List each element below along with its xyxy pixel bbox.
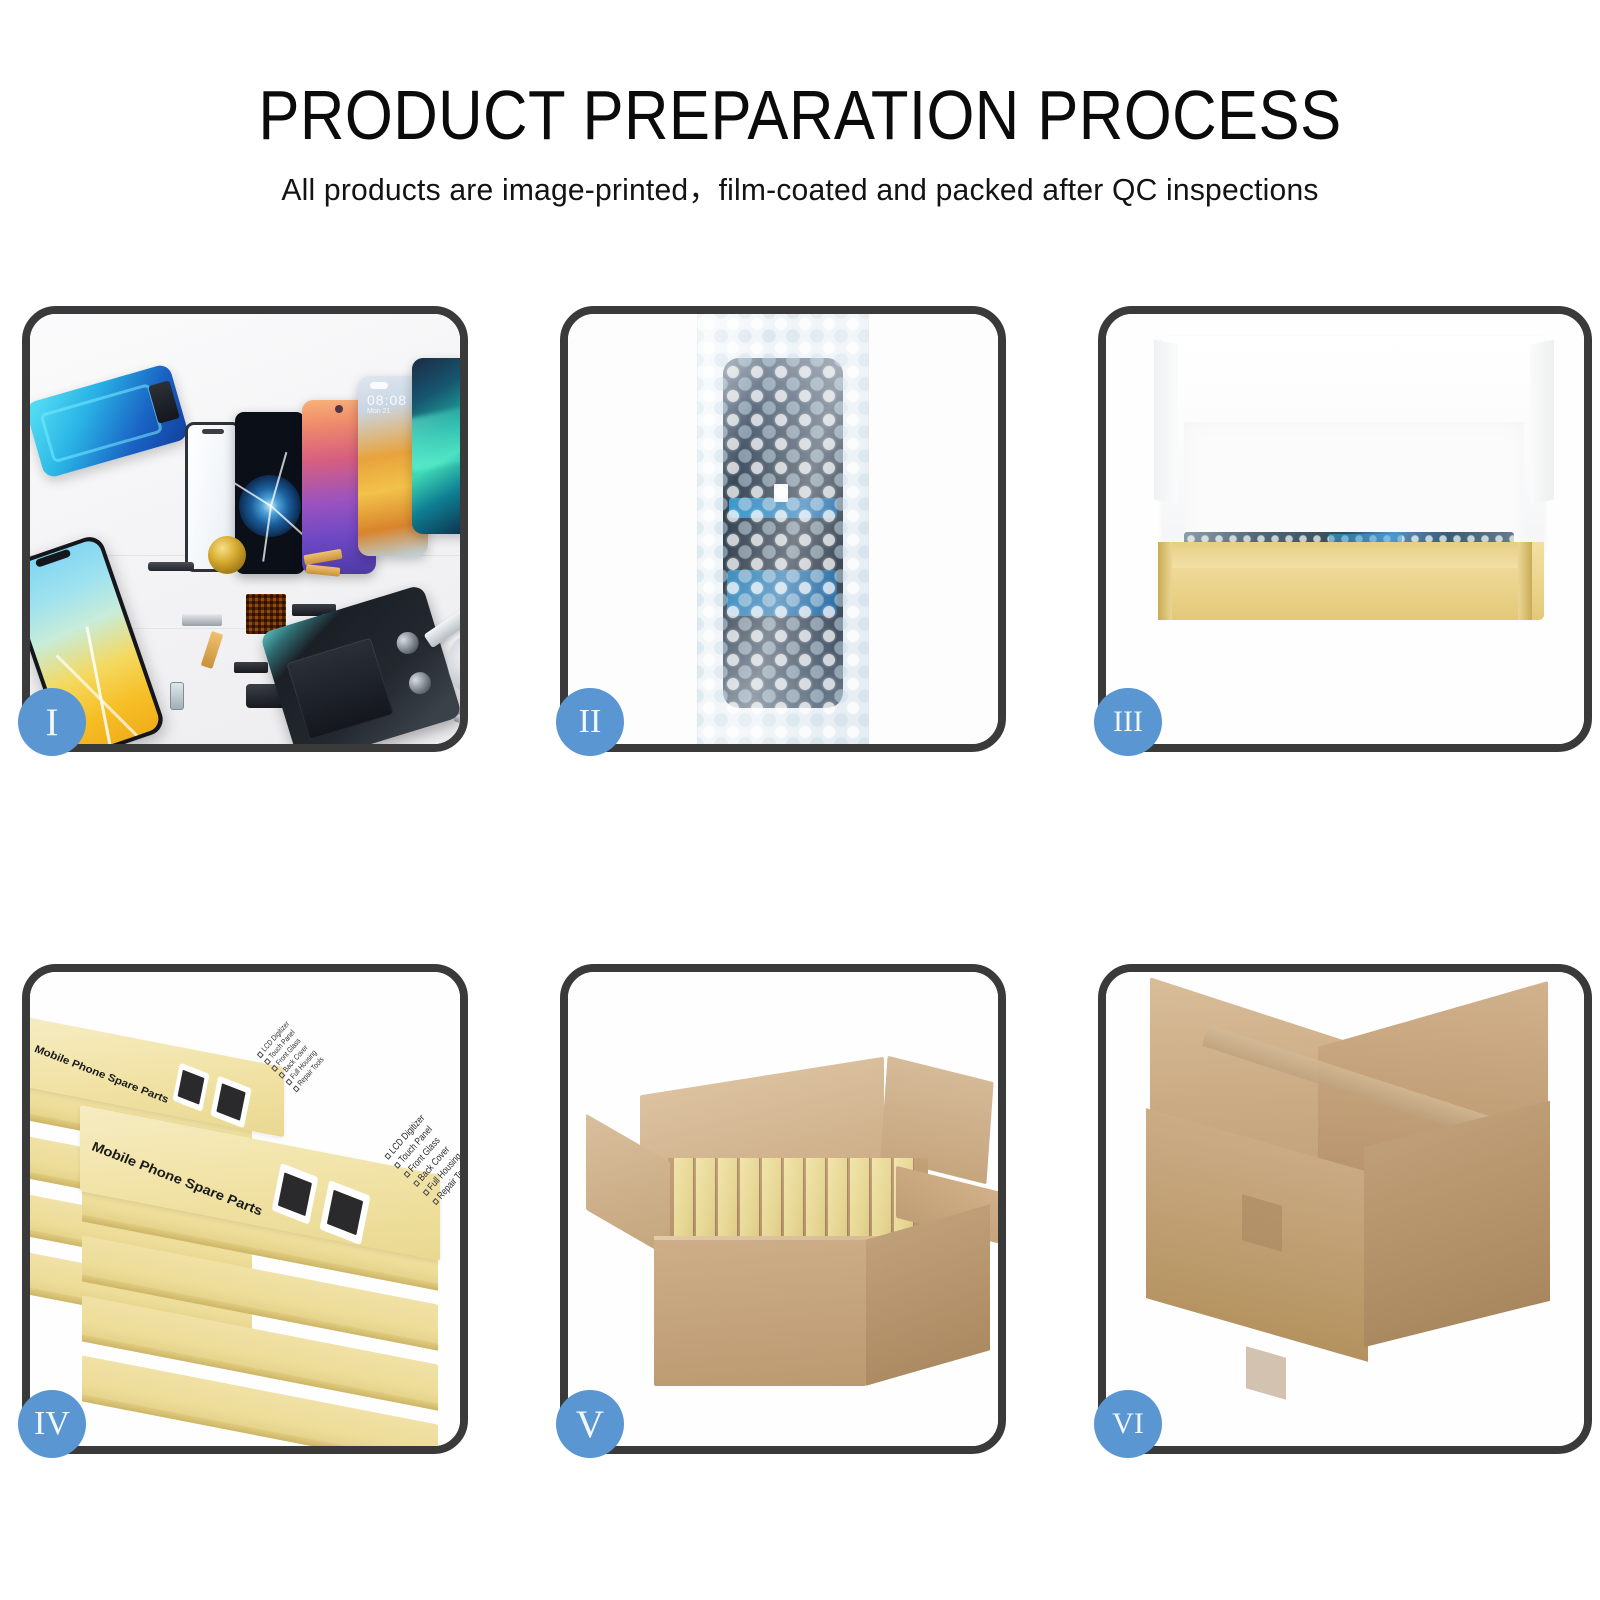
battery-part <box>286 637 394 739</box>
bubble-wrap-scene <box>568 314 998 744</box>
tray-corner-right <box>1518 542 1532 620</box>
sealed-carton-scene <box>1106 972 1584 1446</box>
tray-corner-left <box>1158 542 1172 620</box>
box-stack: Mobile Phone Spare Parts LCD Digitizer T… <box>30 1002 460 1432</box>
product-preparation-process-page: PRODUCT PREPARATION PROCESS All products… <box>0 0 1600 1600</box>
retail-box-checklist: LCD Digitizer Touch Panel Front Glass Ba… <box>382 1112 460 1207</box>
spare-parts-collage: 08:08 Mon 21 <box>30 314 460 744</box>
process-step-panel-6[interactable]: VI <box>1098 964 1592 1454</box>
process-step-panel-2[interactable]: II <box>560 306 1006 752</box>
process-step-panel-5[interactable]: V <box>560 964 1006 1454</box>
kraft-box-inner-wall <box>1172 542 1528 568</box>
plastic-sheen <box>697 314 869 744</box>
lid-flap-left <box>1154 339 1178 504</box>
speaker-part <box>148 562 194 571</box>
retail-box-checklist: LCD Digitizer Touch Panel Front Glass Ba… <box>256 1020 327 1093</box>
flex-cable-part <box>201 631 224 669</box>
panel-3-image <box>1106 314 1584 744</box>
retail-box-product-photo <box>210 1076 251 1129</box>
step-badge-5: V <box>556 1390 624 1458</box>
carton-filling-scene <box>568 972 998 1446</box>
bracket-part <box>182 614 222 626</box>
inner-box-scene <box>1106 314 1584 744</box>
camera-lens <box>394 630 421 657</box>
sim-tray-part <box>170 682 184 710</box>
panel-4-image: Mobile Phone Spare Parts LCD Digitizer T… <box>30 972 460 1446</box>
process-step-panel-3[interactable]: III <box>1098 306 1592 752</box>
panel-1-image: 08:08 Mon 21 <box>30 314 460 744</box>
camera-lens <box>406 669 433 696</box>
back-housing-part <box>260 584 460 744</box>
carton-front-face <box>654 1240 866 1386</box>
vibrator-part <box>234 662 268 673</box>
punch-hole-camera <box>370 382 388 389</box>
phone-date: Mon 21 <box>367 408 390 415</box>
panel-2-image <box>568 314 998 744</box>
lid-flap-right <box>1530 339 1554 504</box>
retail-box-product-photo <box>272 1163 319 1225</box>
foam-liner <box>1184 422 1524 548</box>
tape-patch <box>1246 1346 1286 1399</box>
step-badge-2: II <box>556 688 624 756</box>
panel-5-image <box>568 972 998 1446</box>
teal-gradient-phone <box>412 358 460 534</box>
step-badge-4: IV <box>18 1390 86 1458</box>
process-step-panel-1[interactable]: 08:08 Mon 21 <box>22 306 468 752</box>
panel-6-image <box>1106 972 1584 1446</box>
wireless-coil-part <box>208 536 246 574</box>
step-badge-1: I <box>18 688 86 756</box>
adhesive-frame-part <box>30 363 190 479</box>
phone-clock: 08:08 <box>367 392 407 408</box>
process-step-grid: 08:08 Mon 21 <box>0 0 1600 1600</box>
step-badge-3: III <box>1094 688 1162 756</box>
process-step-panel-4[interactable]: Mobile Phone Spare Parts LCD Digitizer T… <box>22 964 468 1454</box>
retail-box-stack-scene: Mobile Phone Spare Parts LCD Digitizer T… <box>30 972 460 1446</box>
step-badge-6: VI <box>1094 1390 1162 1458</box>
retail-box-product-photo <box>172 1063 209 1112</box>
retail-box-product-photo <box>319 1180 370 1245</box>
